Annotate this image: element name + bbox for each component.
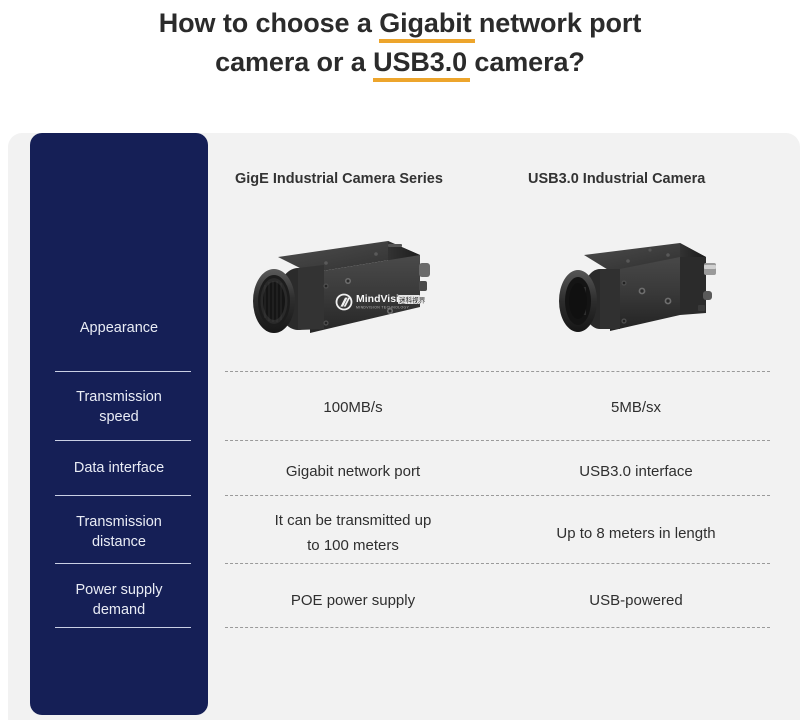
sidebar-item-label: Appearance <box>70 318 168 338</box>
feature-sidebar: Appearance Transmission speed Data inter… <box>30 133 208 715</box>
sidebar-divider <box>55 563 191 564</box>
sidebar-divider <box>55 371 191 372</box>
cell-gige-transmission-speed: 100MB/s <box>218 395 488 420</box>
svg-text:迷科视界: 迷科视界 <box>399 296 426 305</box>
title-line-2-pre: camera or a <box>215 47 373 77</box>
sidebar-divider <box>55 627 191 628</box>
cell-usb-transmission-speed: 5MB/sx <box>501 395 771 420</box>
row-divider <box>225 563 770 564</box>
sidebar-divider <box>55 495 191 496</box>
sidebar-item-label: Transmission speed <box>66 387 172 427</box>
sidebar-item-data-interface[interactable]: Data interface <box>30 448 208 488</box>
usb-camera-image <box>538 229 738 349</box>
sidebar-item-label: Power supply demand <box>65 580 172 620</box>
cell-gige-transmission-distance: It can be transmitted up to 100 meters <box>218 508 488 558</box>
sidebar-item-appearance[interactable]: Appearance <box>30 306 208 350</box>
row-divider <box>225 440 770 441</box>
cell-usb-transmission-distance: Up to 8 meters in length <box>501 521 771 546</box>
cell-usb-data-interface: USB3.0 interface <box>501 459 771 484</box>
title-line-1: How to choose a Gigabit network port <box>0 4 800 43</box>
title-line-2-post: camera? <box>467 47 585 77</box>
cell-gige-data-interface: Gigabit network port <box>218 459 488 484</box>
row-divider <box>225 627 770 628</box>
title-line-1-post: network port <box>472 8 642 38</box>
title-highlight-gigabit: Gigabit <box>379 4 471 43</box>
usb-camera-illustration <box>538 229 738 349</box>
gige-camera-illustration: MindVision MINDVISION TECHNOLOGY 迷科视界 <box>238 229 438 349</box>
comparison-content: GigE Industrial Camera Series USB3.0 Ind… <box>208 133 800 720</box>
gige-camera-image: MindVision MINDVISION TECHNOLOGY 迷科视界 <box>238 229 438 349</box>
column-header-usb: USB3.0 Industrial Camera <box>528 171 705 187</box>
page-title: How to choose a Gigabit network port cam… <box>0 4 800 82</box>
cell-usb-power-supply: USB-powered <box>501 588 771 613</box>
column-header-gige: GigE Industrial Camera Series <box>235 171 443 187</box>
sidebar-item-transmission-speed[interactable]: Transmission speed <box>30 381 208 433</box>
sidebar-item-transmission-distance[interactable]: Transmission distance <box>30 506 208 558</box>
sidebar-divider <box>55 440 191 441</box>
row-divider <box>225 371 770 372</box>
comparison-infographic: How to choose a Gigabit network port cam… <box>0 0 800 720</box>
sidebar-item-label: Data interface <box>64 458 174 478</box>
svg-text:MINDVISION TECHNOLOGY: MINDVISION TECHNOLOGY <box>356 306 410 310</box>
cell-gige-power-supply: POE power supply <box>218 588 488 613</box>
sidebar-item-label: Transmission distance <box>66 512 172 552</box>
sidebar-item-power-supply-demand[interactable]: Power supply demand <box>30 574 208 626</box>
title-line-2: camera or a USB3.0 camera? <box>0 43 800 82</box>
title-line-1-pre: How to choose a <box>159 8 379 38</box>
title-highlight-usb30: USB3.0 <box>373 43 467 82</box>
comparison-card: Appearance Transmission speed Data inter… <box>8 133 800 720</box>
row-divider <box>225 495 770 496</box>
